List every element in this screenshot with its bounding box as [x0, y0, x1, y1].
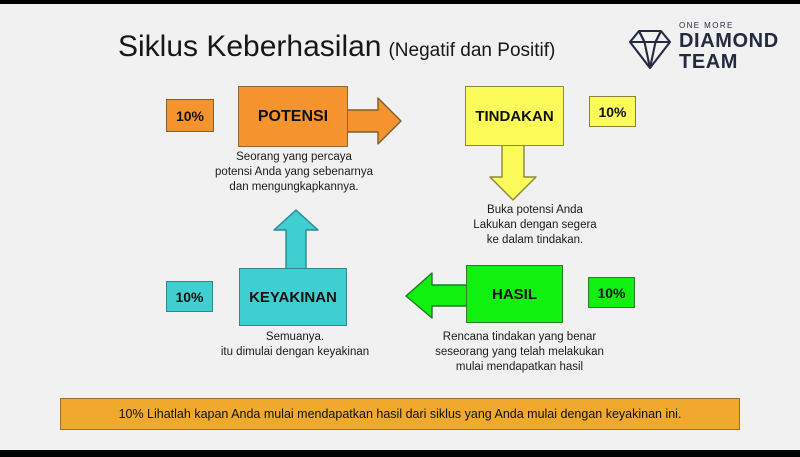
- letterbox-top-bar: [0, 0, 800, 4]
- node-tindakan-label: TINDAKAN: [475, 108, 553, 125]
- arrow-keyakinan-to-potensi: [272, 208, 320, 277]
- logo-line-team: TEAM: [679, 52, 779, 73]
- badge-keyakinan-value: 10%: [175, 289, 203, 305]
- badge-potensi-percent: 10%: [166, 99, 214, 132]
- node-potensi[interactable]: POTENSI: [238, 86, 348, 147]
- node-keyakinan[interactable]: KEYAKINAN: [239, 268, 347, 326]
- badge-keyakinan-percent: 10%: [166, 281, 213, 312]
- node-hasil[interactable]: HASIL: [466, 265, 563, 323]
- slide-canvas: Siklus Keberhasilan(Negatif dan Positif)…: [0, 0, 800, 457]
- logo-line-diamond: DIAMOND: [679, 31, 779, 52]
- node-keyakinan-label: KEYAKINAN: [249, 289, 337, 306]
- arrow-tindakan-to-hasil: [488, 144, 538, 207]
- bottom-banner: 10% Lihatlah kapan Anda mulai mendapatka…: [60, 398, 740, 430]
- node-tindakan[interactable]: TINDAKAN: [465, 86, 564, 146]
- caption-potensi: Seorang yang percaya potensi Anda yang s…: [188, 150, 400, 195]
- caption-keyakinan: Semuanya. itu dimulai dengan keyakinan: [195, 330, 395, 360]
- caption-tindakan: Buka potensi Anda Lakukan dengan segera …: [440, 203, 630, 248]
- caption-hasil: Rencana tindakan yang benar seseorang ya…: [412, 330, 627, 375]
- logo-wordmark: ONE MORE DIAMOND TEAM: [679, 20, 779, 73]
- node-hasil-label: HASIL: [492, 286, 537, 303]
- arrow-hasil-to-keyakinan: [404, 272, 468, 325]
- letterbox-bottom-bar: [0, 450, 800, 457]
- title-subtitle-text: (Negatif dan Positif): [388, 40, 555, 61]
- badge-tindakan-percent: 10%: [589, 96, 636, 127]
- page-title: Siklus Keberhasilan(Negatif dan Positif): [118, 30, 555, 64]
- brand-logo: ONE MORE DIAMOND TEAM: [627, 20, 785, 78]
- arrow-potensi-to-tindakan: [345, 96, 403, 151]
- badge-tindakan-value: 10%: [598, 104, 626, 120]
- badge-potensi-value: 10%: [176, 108, 204, 124]
- bottom-banner-text: 10% Lihatlah kapan Anda mulai mendapatka…: [119, 407, 682, 421]
- title-main-text: Siklus Keberhasilan: [118, 30, 381, 63]
- badge-hasil-percent: 10%: [588, 277, 635, 308]
- badge-hasil-value: 10%: [597, 285, 625, 301]
- node-potensi-label: POTENSI: [258, 108, 328, 126]
- diamond-icon: [627, 26, 673, 77]
